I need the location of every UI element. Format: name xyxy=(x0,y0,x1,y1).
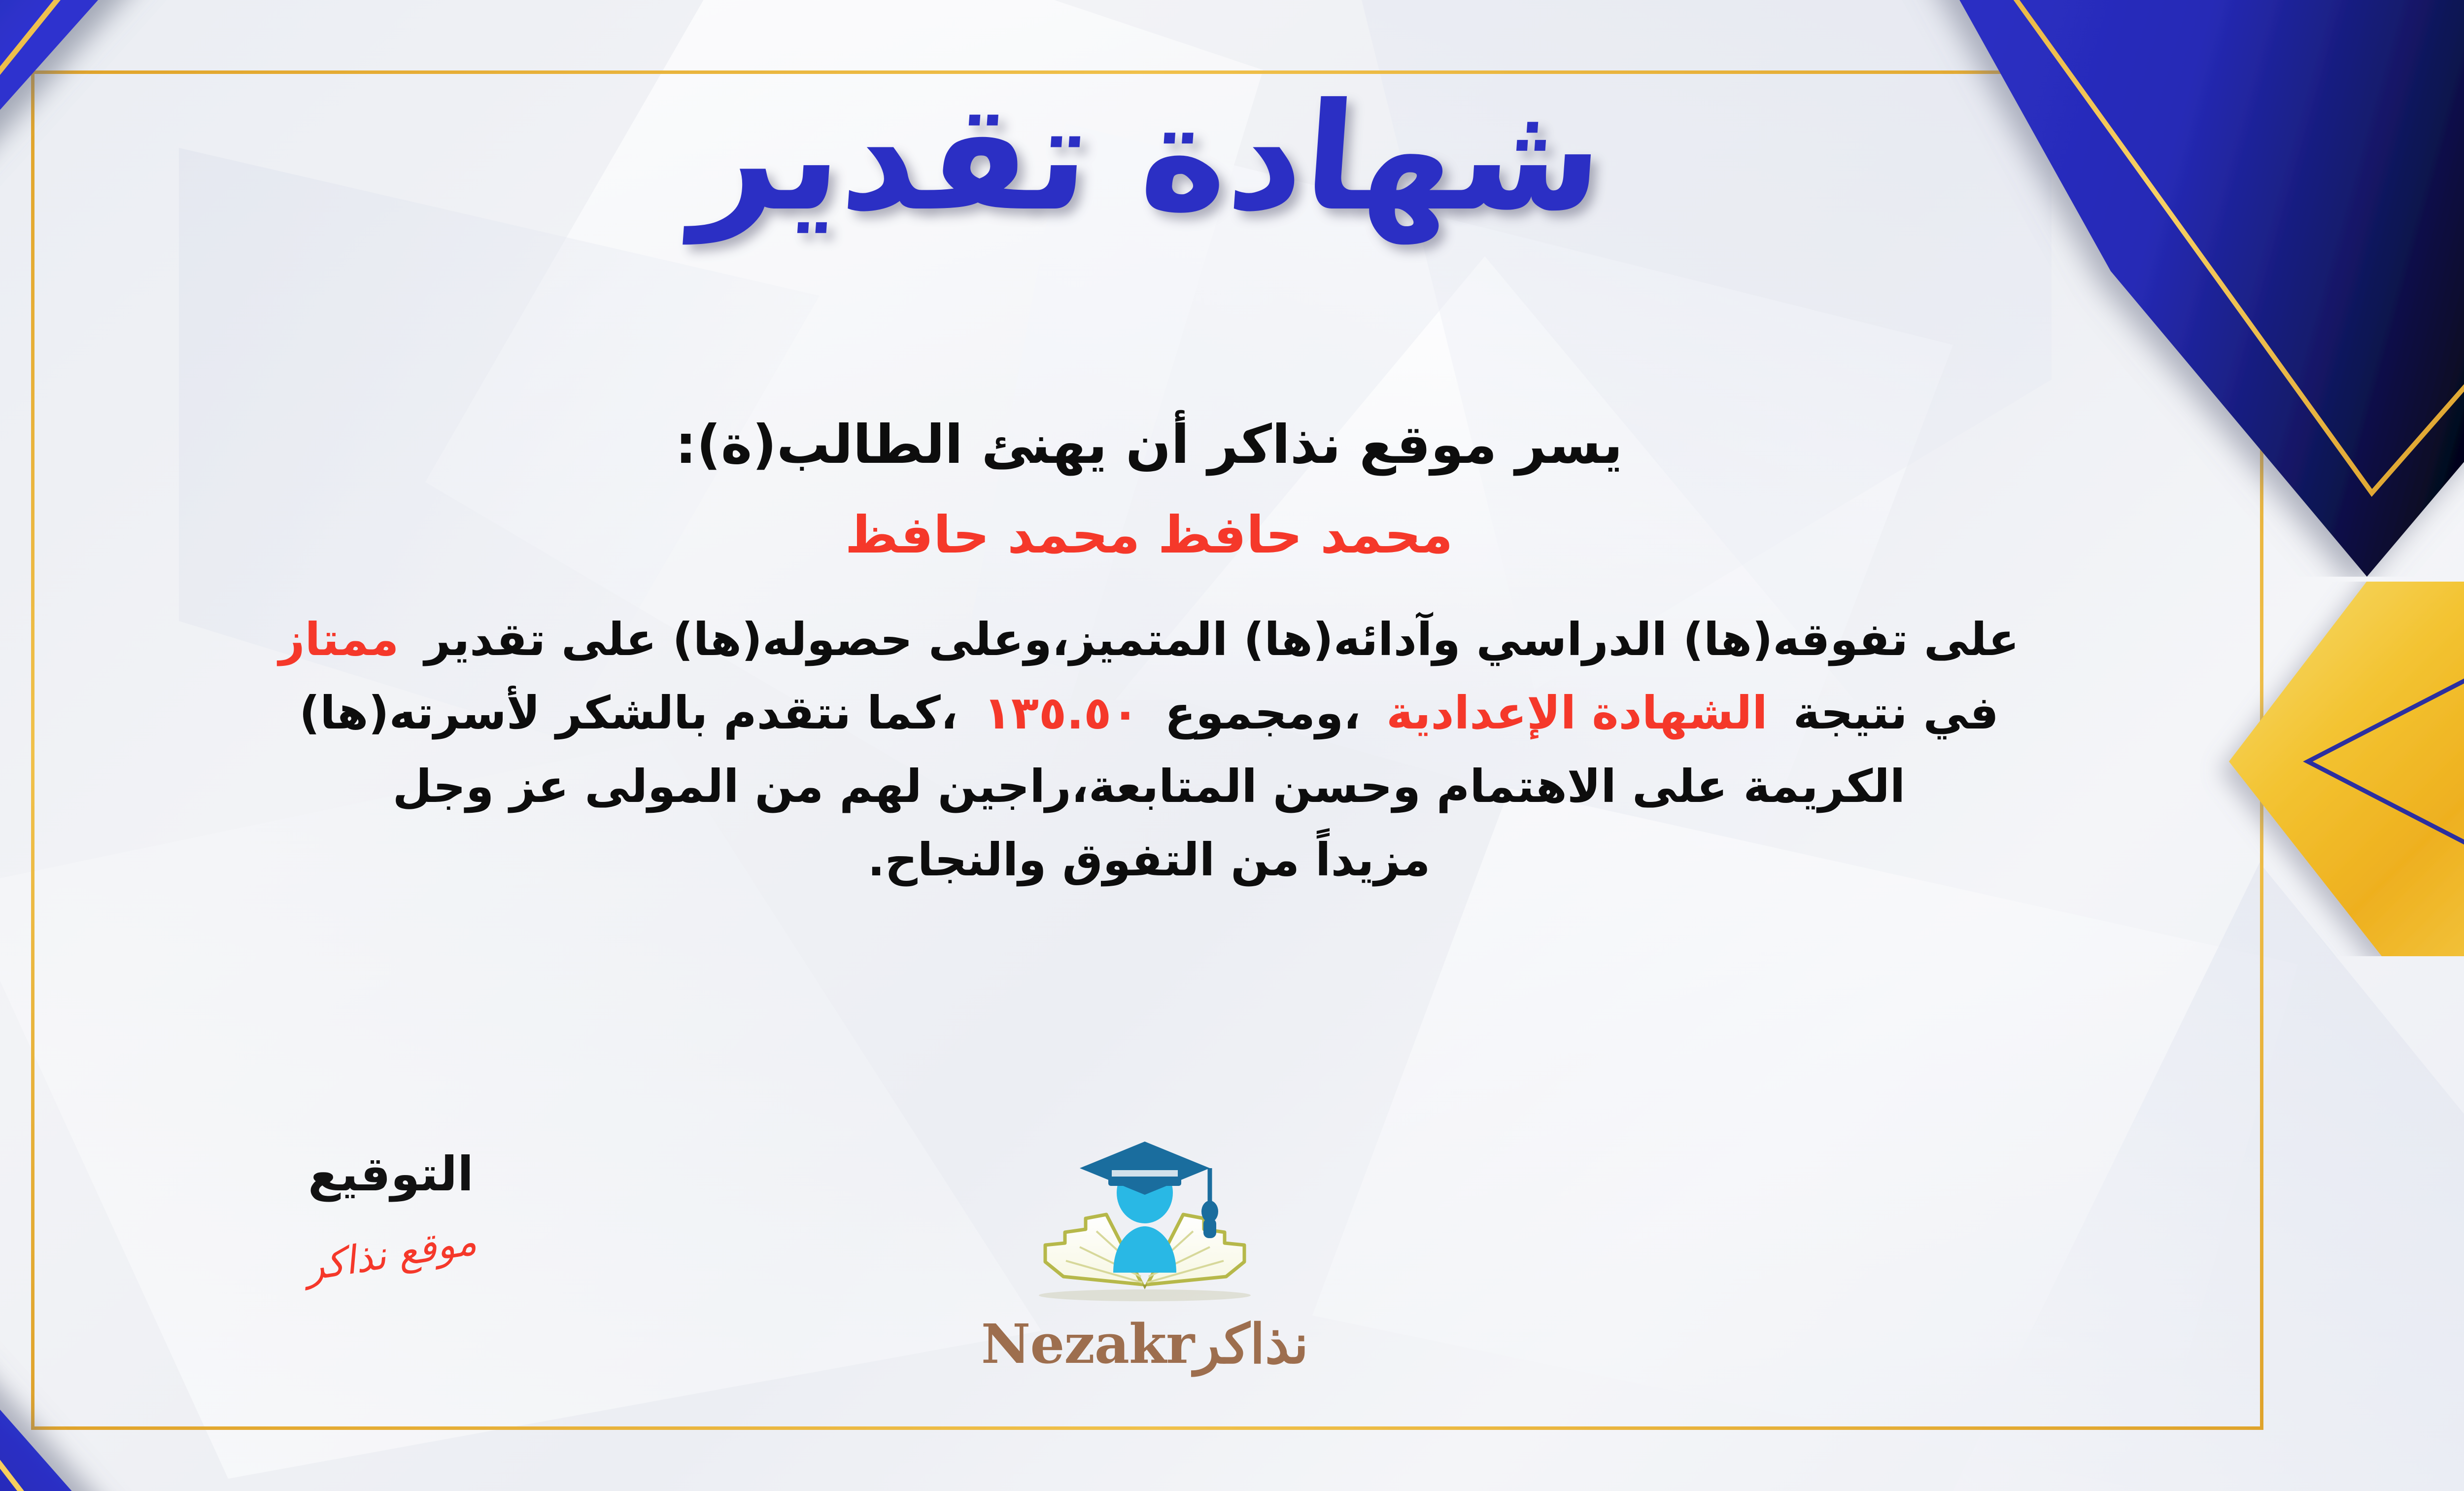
student-name: محمد حافظ محمد حافظ xyxy=(41,502,2257,568)
logo-name-latin: Nezakr xyxy=(981,1312,1194,1376)
site-logo: نذاكرNezakr xyxy=(958,1129,1332,1376)
body-line-2-prefix: في نتيجة xyxy=(1793,687,1999,739)
logo-wordmark: نذاكرNezakr xyxy=(958,1312,1332,1376)
total-score: ١٣٥.٥٠ xyxy=(984,687,1139,739)
body-line-1: على تفوقه(ها) الدراسي وآدائه(ها) المتميز… xyxy=(41,603,2257,676)
graduate-open-book-icon xyxy=(1017,1129,1273,1321)
logo-name-arabic: نذاكر xyxy=(1194,1312,1308,1376)
signature-label: التوقيع xyxy=(218,1148,563,1201)
certificate-document: شهادة تقدير يسر موقع نذاكر أن يهنئ الطال… xyxy=(0,0,2464,1491)
body-line-1-text: على تفوقه(ها) الدراسي وآدائه(ها) المتميز… xyxy=(424,613,2019,666)
signature-area: التوقيع موقع نذاكر xyxy=(218,1148,563,1274)
body-line-3: الكريمة على الاهتمام وحسن المتابعة،راجين… xyxy=(41,750,2257,823)
grade-value: ممتاز xyxy=(279,613,399,666)
body-line-2-mid: ،ومجموع xyxy=(1164,687,1361,739)
exam-name: الشهادة الإعدادية xyxy=(1386,687,1768,739)
intro-line: يسر موقع نذاكر أن يهنئ الطالب(ة): xyxy=(41,409,2257,481)
certificate-body: يسر موقع نذاكر أن يهنئ الطالب(ة): محمد ح… xyxy=(41,409,2257,897)
body-paragraph: على تفوقه(ها) الدراسي وآدائه(ها) المتميز… xyxy=(41,603,2257,897)
body-line-2: في نتيجةالشهادة الإعدادية،ومجموع١٣٥.٥٠،ك… xyxy=(41,676,2257,750)
body-line-4: مزيداً من التفوق والنجاح. xyxy=(41,823,2257,897)
body-line-2-suffix: ،كما نتقدم بالشكر لأسرته(ها) xyxy=(299,687,958,739)
